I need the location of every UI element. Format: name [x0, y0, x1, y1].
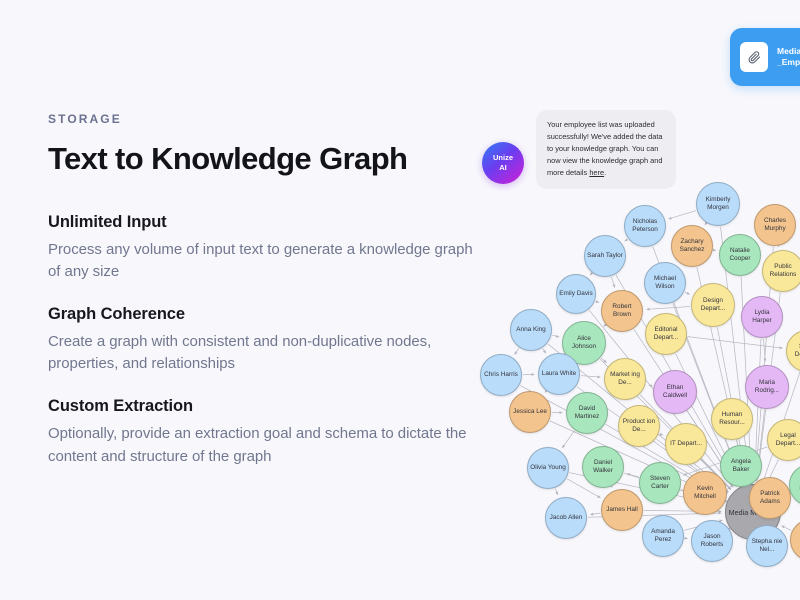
feature-description: Process any volume of input text to gene… [48, 239, 473, 283]
graph-node-label: Robert Brown [604, 303, 640, 319]
graph-node[interactable]: Editorial Depart... [645, 313, 687, 355]
graph-node-label: Alice Johnson [565, 335, 603, 351]
graph-node-label: Public Relations [765, 263, 800, 279]
graph-node-label: Amanda Perez [645, 528, 681, 544]
message-text-end: . [604, 168, 606, 177]
graph-node-label: Michael Wilson [647, 275, 683, 291]
graph-node-label: Natalie Cooper [722, 247, 758, 263]
graph-node-label: Lydia Harper [744, 309, 780, 325]
file-name: Media [777, 46, 800, 57]
graph-node[interactable]: Public Relations [762, 250, 800, 292]
page-title: Text to Knowledge Graph [48, 142, 478, 177]
graph-node[interactable]: Angela Baker [720, 445, 762, 487]
graph-node-label: Angela Baker [723, 458, 759, 474]
graph-node[interactable]: Patrick Adams [749, 477, 791, 519]
graph-node-label: Patrick Adams [752, 490, 788, 506]
graph-node-label: James Hall [604, 506, 640, 514]
graph-node[interactable]: Sarah Taylor [584, 235, 626, 277]
graph-node[interactable]: Laura White [538, 353, 580, 395]
graph-node-label: Anna King [513, 326, 549, 334]
graph-node[interactable]: Stepha nie Nel... [746, 525, 788, 567]
graph-node-label: Stepha nie Nel... [749, 538, 785, 554]
graph-node-label: Nicholas Peterson [627, 218, 663, 234]
graph-node[interactable]: Charles Murphy [754, 204, 796, 246]
feature-title: Custom Extraction [48, 397, 478, 416]
graph-node-label: Chris Harris [483, 371, 519, 379]
graph-node-label: Jacob Allen [548, 514, 584, 522]
graph-node[interactable]: Maria Rodrig... [745, 365, 789, 409]
file-name-block: Media _Emp [777, 46, 800, 69]
graph-node-label: Karen Edwa... [792, 477, 800, 493]
graph-node-label: Sales Depart... [789, 343, 800, 359]
graph-node[interactable]: Market ing De... [604, 358, 646, 400]
graph-node[interactable]: Jacob Allen [545, 497, 587, 539]
graph-node-label: Human Resour... [714, 411, 750, 427]
graph-node[interactable]: Chris Harris [480, 354, 522, 396]
graph-node[interactable]: James Hall [601, 489, 643, 531]
graph-node[interactable]: Jessica Lee [509, 391, 551, 433]
graph-node[interactable]: David Martinez [566, 392, 608, 434]
graph-node-label: Daniel Walker [585, 459, 621, 475]
graph-node-label: Market ing De... [607, 371, 643, 387]
graph-node[interactable]: Emily Davis [556, 274, 596, 314]
graph-node-label: Steven Carter [642, 475, 678, 491]
graph-node[interactable]: Lydia Harper [741, 296, 783, 338]
paperclip-icon [740, 42, 768, 72]
graph-node[interactable]: Zachary Sanchez [671, 225, 713, 267]
feature-description: Create a graph with consistent and non-d… [48, 331, 473, 375]
graph-node-label: Kevin Mitchell [686, 485, 724, 501]
graph-node[interactable]: Amanda Perez [642, 515, 684, 557]
file-attachment-card[interactable]: Media _Emp [730, 28, 800, 86]
graph-node-label: Brian Cooper [793, 532, 800, 548]
graph-node-label: Charles Murphy [757, 217, 793, 233]
graph-node-label: Product ion De... [621, 418, 657, 434]
graph-node[interactable]: Kimberly Morgen [696, 182, 740, 226]
graph-node-label: Maria Rodrig... [748, 379, 786, 395]
graph-node[interactable]: Anna King [510, 309, 552, 351]
graph-node[interactable]: Nicholas Peterson [624, 205, 666, 247]
graph-node-label: Olivia Young [530, 464, 566, 472]
graph-node[interactable]: IT Depart... [665, 423, 707, 465]
feature-graph-coherence: Graph Coherence Create a graph with cons… [48, 305, 478, 375]
graph-node-label: Legal Depart... [770, 432, 800, 448]
feature-title: Unlimited Input [48, 213, 478, 232]
graph-node-label: Sarah Taylor [587, 252, 623, 260]
here-link[interactable]: here [589, 168, 604, 177]
graph-node-label: Laura White [541, 370, 577, 378]
graph-node[interactable]: Michael Wilson [644, 262, 686, 304]
graph-node-label: Jason Roberts [694, 533, 730, 549]
feature-title: Graph Coherence [48, 305, 478, 324]
graph-node[interactable]: Kevin Mitchell [683, 471, 727, 515]
graph-node-label: Zachary Sanchez [674, 238, 710, 254]
knowledge-graph-visualization[interactable]: Media Mingle...Kimberly MorgenNicholas P… [470, 178, 800, 578]
graph-node-label: Design Depart... [694, 297, 732, 313]
graph-node-label: IT Depart... [668, 440, 704, 448]
screenshot-root: STORAGE Text to Knowledge Graph Unlimite… [0, 0, 800, 600]
graph-node[interactable]: Robert Brown [601, 290, 643, 332]
feature-description: Optionally, provide an extraction goal a… [48, 423, 473, 467]
storage-section: STORAGE Text to Knowledge Graph Unlimite… [48, 112, 478, 490]
feature-unlimited-input: Unlimited Input Process any volume of in… [48, 213, 478, 283]
graph-node-label: David Martinez [569, 405, 605, 421]
file-name-continued: _Emp [777, 57, 800, 68]
graph-node[interactable]: Daniel Walker [582, 446, 624, 488]
graph-node-label: Kimberly Morgen [699, 196, 737, 212]
graph-node[interactable]: Design Depart... [691, 283, 735, 327]
ai-badge-line1: Unize [493, 153, 513, 163]
graph-node[interactable]: Olivia Young [527, 447, 569, 489]
graph-node-label: Ethan Caldwell [656, 384, 694, 400]
graph-node-label: Jessica Lee [512, 408, 548, 416]
graph-node[interactable]: Jason Roberts [691, 520, 733, 562]
feature-custom-extraction: Custom Extraction Optionally, provide an… [48, 397, 478, 467]
graph-node-label: Emily Davis [559, 290, 593, 298]
graph-node[interactable]: Product ion De... [618, 405, 660, 447]
graph-node[interactable]: Ethan Caldwell [653, 370, 697, 414]
section-eyebrow: STORAGE [48, 112, 478, 126]
graph-node-label: Editorial Depart... [648, 326, 684, 342]
graph-node[interactable]: Natalie Cooper [719, 234, 761, 276]
graph-node[interactable]: Human Resour... [711, 398, 753, 440]
graph-node[interactable]: Steven Carter [639, 462, 681, 504]
ai-badge-line2: AI [499, 163, 507, 173]
